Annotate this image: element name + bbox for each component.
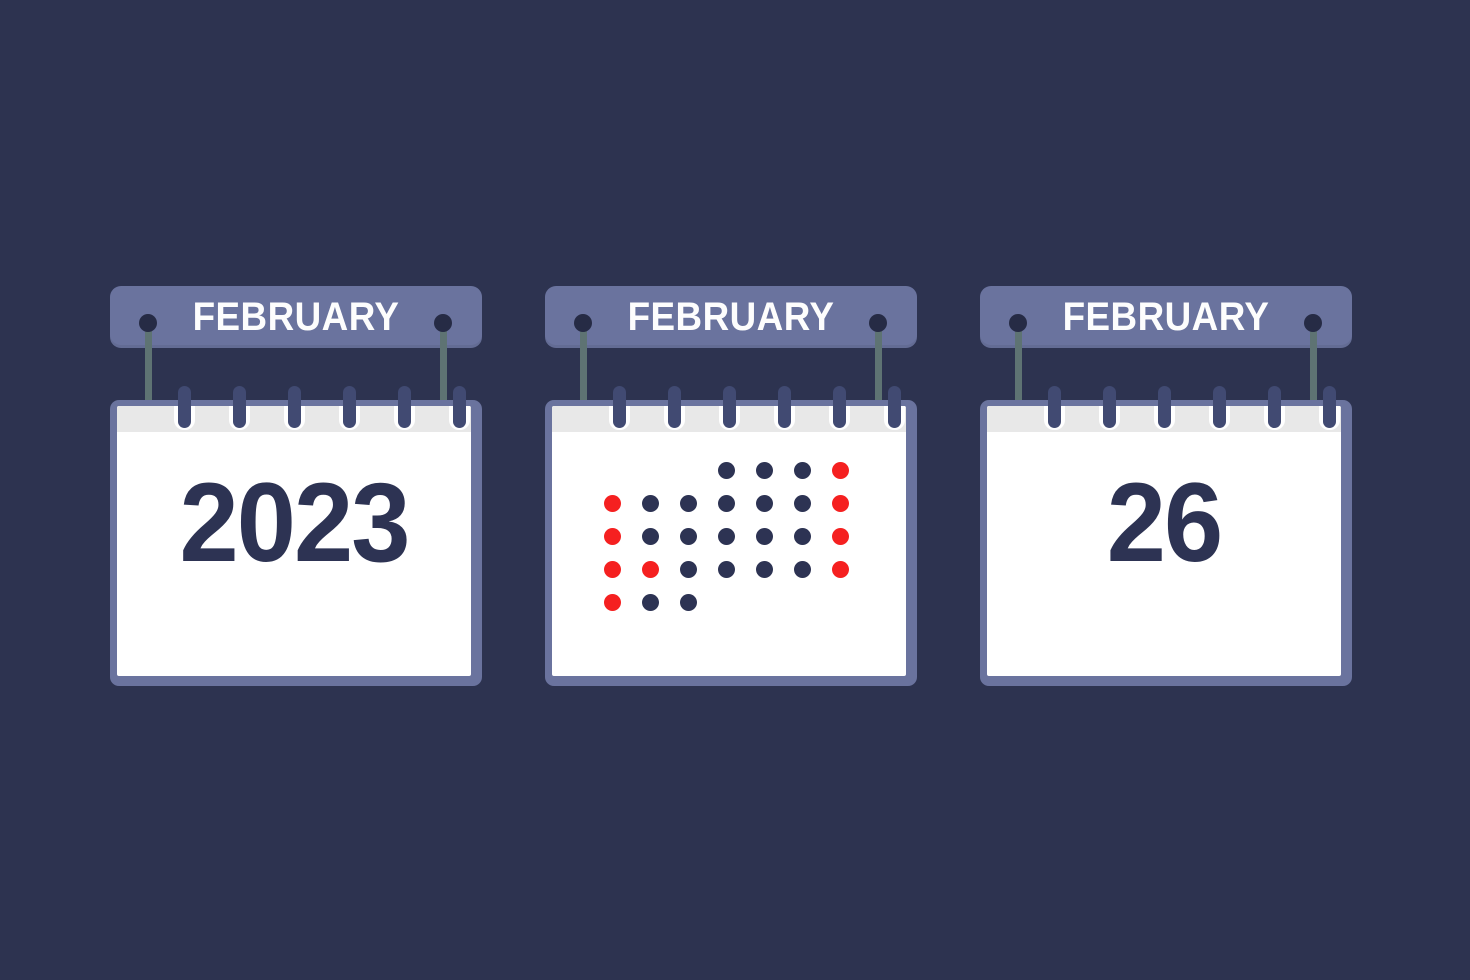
calendar-frame: 2023 [110, 400, 482, 686]
nail-head-right-icon [1304, 314, 1322, 332]
calendar-dot-r3-c5 [756, 528, 773, 545]
calendar-display-value: 2023 [126, 458, 462, 588]
binder-ring-5-icon [1268, 386, 1281, 428]
calendar-display-value: 26 [996, 458, 1332, 588]
binder-ring-2-icon [1103, 386, 1116, 428]
calendar-dot-r1-c7 [832, 462, 849, 479]
month-label: FEBRUARY [995, 299, 1337, 335]
calendar-page: 26 [987, 406, 1341, 676]
calendar-dot-r4-c1 [604, 561, 621, 578]
calendar-page [552, 406, 906, 676]
calendar-dot-r3-c6 [794, 528, 811, 545]
calendar-dot-r2-c2 [642, 495, 659, 512]
nail-head-right-icon [869, 314, 887, 332]
calendar-frame: 26 [980, 400, 1352, 686]
calendar-dot-r4-c3 [680, 561, 697, 578]
month-plaque: FEBRUARY [545, 286, 917, 348]
calendar-dot-r5-c2 [642, 594, 659, 611]
binder-ring-4-icon [1213, 386, 1226, 428]
binder-ring-5-icon [398, 386, 411, 428]
binder-ring-1-icon [1048, 386, 1061, 428]
calendar-dot-r5-c3 [680, 594, 697, 611]
binder-ring-2-icon [668, 386, 681, 428]
binder-ring-1-icon [613, 386, 626, 428]
calendar-dot-r3-c1 [604, 528, 621, 545]
month-label: FEBRUARY [560, 299, 902, 335]
calendar-dot-r5-c1 [604, 594, 621, 611]
binder-ring-5-icon [833, 386, 846, 428]
nail-head-left-icon [574, 314, 592, 332]
calendar-dot-r2-c5 [756, 495, 773, 512]
calendar-dot-r1-c4 [718, 462, 735, 479]
binder-ring-2-icon [233, 386, 246, 428]
calendar-dot-r3-c4 [718, 528, 735, 545]
binder-ring-4-icon [778, 386, 791, 428]
calendar-dot-r1-c6 [794, 462, 811, 479]
binder-ring-6-icon [1323, 386, 1336, 428]
calendar-dot-r3-c7 [832, 528, 849, 545]
calendar-dot-r2-c3 [680, 495, 697, 512]
calendar-year[interactable]: FEBRUARY 2023 [110, 286, 486, 686]
calendar-dot-r2-c4 [718, 495, 735, 512]
nail-head-left-icon [139, 314, 157, 332]
calendar-dot-r2-c1 [604, 495, 621, 512]
calendar-dot-r4-c5 [756, 561, 773, 578]
calendar-dot-r1-c5 [756, 462, 773, 479]
binder-ring-6-icon [453, 386, 466, 428]
calendar-dot-r3-c2 [642, 528, 659, 545]
calendar-grid[interactable]: FEBRUARY [545, 286, 921, 686]
binder-ring-4-icon [343, 386, 356, 428]
calendar-dot-r3-c3 [680, 528, 697, 545]
binder-ring-6-icon [888, 386, 901, 428]
calendar-dot-r4-c6 [794, 561, 811, 578]
calendar-page: 2023 [117, 406, 471, 676]
nail-head-left-icon [1009, 314, 1027, 332]
calendar-dot-r2-c7 [832, 495, 849, 512]
calendar-icon-scene: FEBRUARY 2023 FEBRUARY [0, 0, 1470, 980]
binder-ring-3-icon [288, 386, 301, 428]
calendar-dot-r4-c2 [642, 561, 659, 578]
calendar-day[interactable]: FEBRUARY 26 [980, 286, 1356, 686]
binder-ring-1-icon [178, 386, 191, 428]
month-plaque: FEBRUARY [110, 286, 482, 348]
month-label: FEBRUARY [125, 299, 467, 335]
calendar-date-dot-grid [604, 462, 872, 612]
calendar-frame [545, 400, 917, 686]
month-plaque: FEBRUARY [980, 286, 1352, 348]
calendar-dot-r2-c6 [794, 495, 811, 512]
calendar-dot-r4-c4 [718, 561, 735, 578]
binder-ring-3-icon [1158, 386, 1171, 428]
nail-head-right-icon [434, 314, 452, 332]
binder-ring-3-icon [723, 386, 736, 428]
calendar-dot-r4-c7 [832, 561, 849, 578]
